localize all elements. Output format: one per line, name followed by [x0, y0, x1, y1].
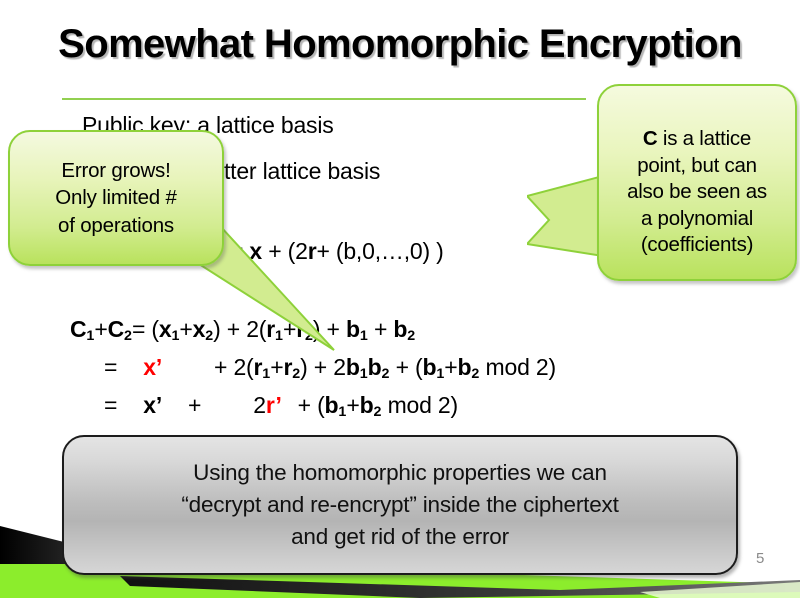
summary-line-1: Using the homomorphic properties we can [193, 457, 607, 489]
eq2-b3: b [423, 354, 437, 380]
eq1-b1: b [346, 316, 360, 342]
eq3-plus2: + ( [298, 392, 325, 418]
eq3-tail: mod 2) [381, 392, 458, 418]
callout-right-line-2: point, but can [637, 153, 757, 180]
eq3-plus3: + [346, 392, 359, 418]
ciphertext-lattice-callout[interactable]: C is a lattice point, but can also be se… [583, 84, 797, 288]
title-divider [62, 98, 586, 100]
eq2-b1: b [346, 354, 360, 380]
callout-right-line-4: a polynomial [641, 206, 753, 233]
callout-left-text: Error grows! Only limited # of operation… [8, 130, 224, 266]
eq2-b4: b [458, 354, 472, 380]
callout-right-line-3: also be seen as [627, 179, 767, 206]
eq2-tail: mod 2) [479, 354, 556, 380]
eq2-b2: b [368, 354, 382, 380]
callout-right-line-1: C is a lattice [643, 126, 751, 153]
callout-right-text: C is a lattice point, but can also be se… [597, 94, 797, 291]
eq1-b2-sub: 2 [407, 328, 415, 344]
callout-left-line-2: Only limited # [55, 184, 176, 211]
eq1-b1-sub: 1 [360, 328, 368, 344]
eq3-two: 2 [253, 392, 266, 418]
eq3-plus1: + [188, 392, 201, 418]
summary-box[interactable]: Using the homomorphic properties we can … [62, 435, 738, 575]
eq3-r-prime: r’ [266, 392, 282, 418]
callout-right-line-1-rest: is a lattice [657, 127, 751, 150]
eq1-b2: b [393, 316, 407, 342]
eq2-plus2: + [444, 354, 457, 380]
callout-right-line-5: (coefficients) [641, 232, 753, 259]
page-title: Somewhat Homomorphic Encryption [0, 22, 800, 67]
eq2-b1-sub: 1 [360, 366, 368, 382]
error-grows-callout[interactable]: Error grows! Only limited # of operation… [8, 130, 338, 360]
callout-left-line-1: Error grows! [61, 157, 170, 184]
eq3-b2: b [360, 392, 374, 418]
callout-right-tail-icon [527, 172, 603, 260]
summary-line-3: and get rid of the error [291, 521, 509, 553]
summary-line-2: “decrypt and re-encrypt” inside the ciph… [181, 489, 618, 521]
slide-canvas: Somewhat Homomorphic Encryption Public k… [0, 0, 800, 598]
slide-number: 5 [756, 550, 764, 567]
eq3-x-prime: x’ [143, 392, 162, 418]
eq2-r2-sub: 2 [292, 366, 300, 382]
callout-right-c-symbol: C [643, 127, 658, 150]
eq3-b1: b [325, 392, 339, 418]
eq3-eq: = [104, 392, 117, 418]
eq2-mid3: + ( [389, 354, 422, 380]
equation-line-3: =x’+2r’+ (b1+b2 mod 2) [70, 392, 458, 420]
eq1-plus4: + [368, 316, 394, 342]
callout-left-line-3: of operations [58, 212, 174, 239]
